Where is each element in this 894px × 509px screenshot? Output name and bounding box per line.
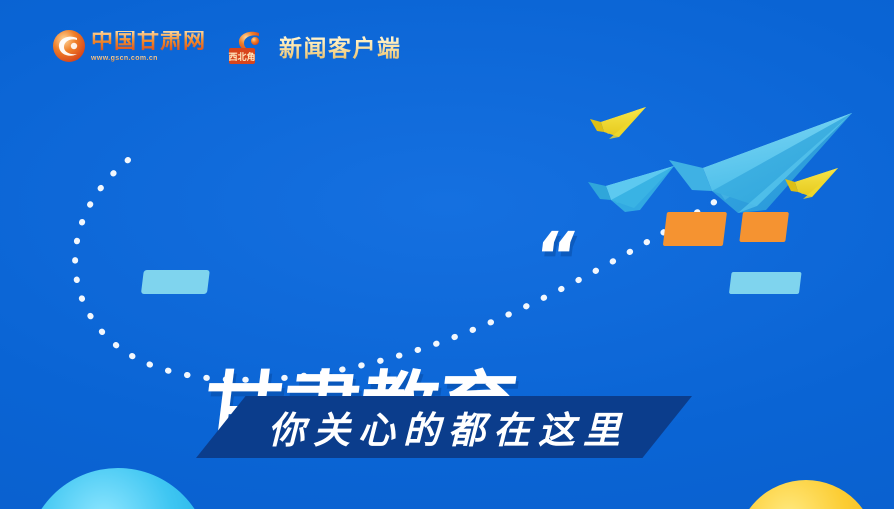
logo-gscn-url: www.gscn.com.cn bbox=[91, 55, 206, 62]
paper-plane-large-cyan-icon bbox=[669, 113, 852, 213]
paper-plane-yellow-top-icon bbox=[590, 107, 646, 139]
logo-china-gansu-net[interactable]: 中国甘肃网 www.gscn.com.cn bbox=[52, 29, 206, 63]
logo-news-client[interactable]: 西北角 新闻客户端 bbox=[228, 28, 402, 64]
page-title: 甘肃教育 “ 十四五 ” 规划 bbox=[7, 214, 894, 509]
news-swirl-icon: 西北角 bbox=[228, 28, 272, 64]
logo-gscn-title: 中国甘肃网 bbox=[91, 31, 206, 53]
paper-plane-small-cyan-icon bbox=[588, 166, 674, 212]
title-part-0: 甘肃教育 bbox=[26, 214, 539, 509]
subtitle-text: 你关心的都在这里 bbox=[196, 396, 692, 458]
paper-plane-yellow-right-icon bbox=[785, 168, 838, 199]
svg-text:西北角: 西北角 bbox=[229, 51, 256, 63]
header-logo-row: 中国甘肃网 www.gscn.com.cn bbox=[52, 28, 402, 64]
poster-root: 中国甘肃网 www.gscn.com.cn bbox=[0, 0, 894, 509]
logo-news-client-title: 新闻客户端 bbox=[279, 29, 402, 63]
gscn-swirl-icon bbox=[52, 29, 86, 63]
title-part-2: 十四五 bbox=[526, 214, 894, 509]
subtitle-banner: 你关心的都在这里 bbox=[196, 396, 692, 458]
